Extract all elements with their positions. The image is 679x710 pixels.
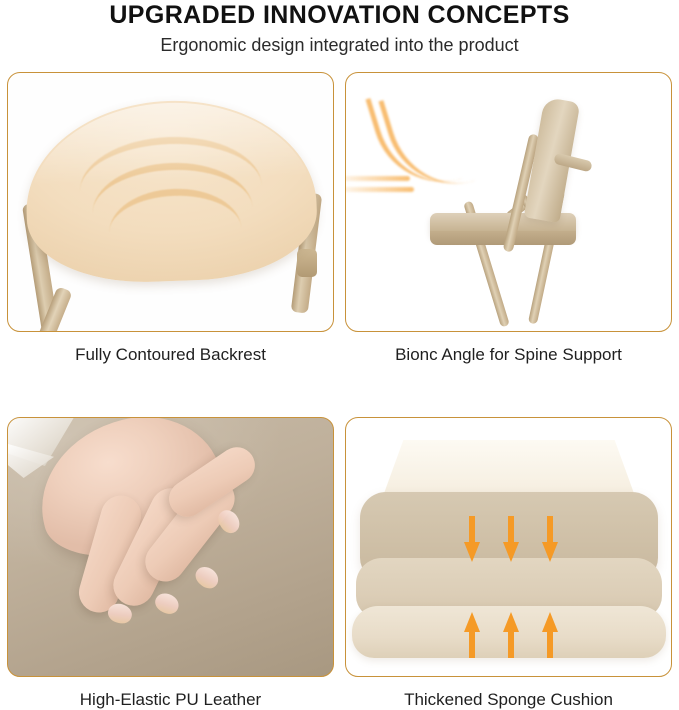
spine-curve-tail-inner xyxy=(345,187,414,192)
feature-caption-spine: Bionc Angle for Spine Support xyxy=(345,332,672,365)
arrow-up-icon-2 xyxy=(502,612,520,658)
chair-seat-edge xyxy=(430,231,576,245)
feature-grid: Fully Contoured Backrest Bionc Angle for… xyxy=(7,72,672,710)
feature-cell-leather: High-Elastic PU Leather xyxy=(7,417,334,710)
feature-panel-cushion xyxy=(345,417,672,677)
spine-curve-tail-outer xyxy=(345,176,410,181)
arrow-up-icon-3 xyxy=(541,612,559,658)
feature-cell-cushion: Thickened Sponge Cushion xyxy=(345,417,672,710)
arrow-down-icon-1 xyxy=(463,516,481,562)
backrest-icon xyxy=(23,96,319,286)
hand-nail-ring xyxy=(152,590,182,618)
hand-press-icon xyxy=(24,417,268,630)
arrow-down-icon-3 xyxy=(541,516,559,562)
chair-hinge-right xyxy=(297,249,317,277)
page-header: UPGRADED INNOVATION CONCEPTS Ergonomic d… xyxy=(0,0,679,56)
hand-nail-middle xyxy=(192,563,223,593)
feature-caption-cushion: Thickened Sponge Cushion xyxy=(345,677,672,710)
feature-cell-backrest: Fully Contoured Backrest xyxy=(7,72,334,365)
page-title: UPGRADED INNOVATION CONCEPTS xyxy=(0,2,679,29)
feature-caption-leather: High-Elastic PU Leather xyxy=(7,677,334,710)
feature-panel-backrest xyxy=(7,72,334,332)
arrow-up-icon-1 xyxy=(463,612,481,658)
arrow-down-icon-2 xyxy=(502,516,520,562)
feature-panel-spine xyxy=(345,72,672,332)
feature-panel-leather xyxy=(7,417,334,677)
feature-caption-backrest: Fully Contoured Backrest xyxy=(7,332,334,365)
page-subtitle: Ergonomic design integrated into the pro… xyxy=(0,34,679,56)
feature-cell-spine: Bionc Angle for Spine Support xyxy=(345,72,672,365)
